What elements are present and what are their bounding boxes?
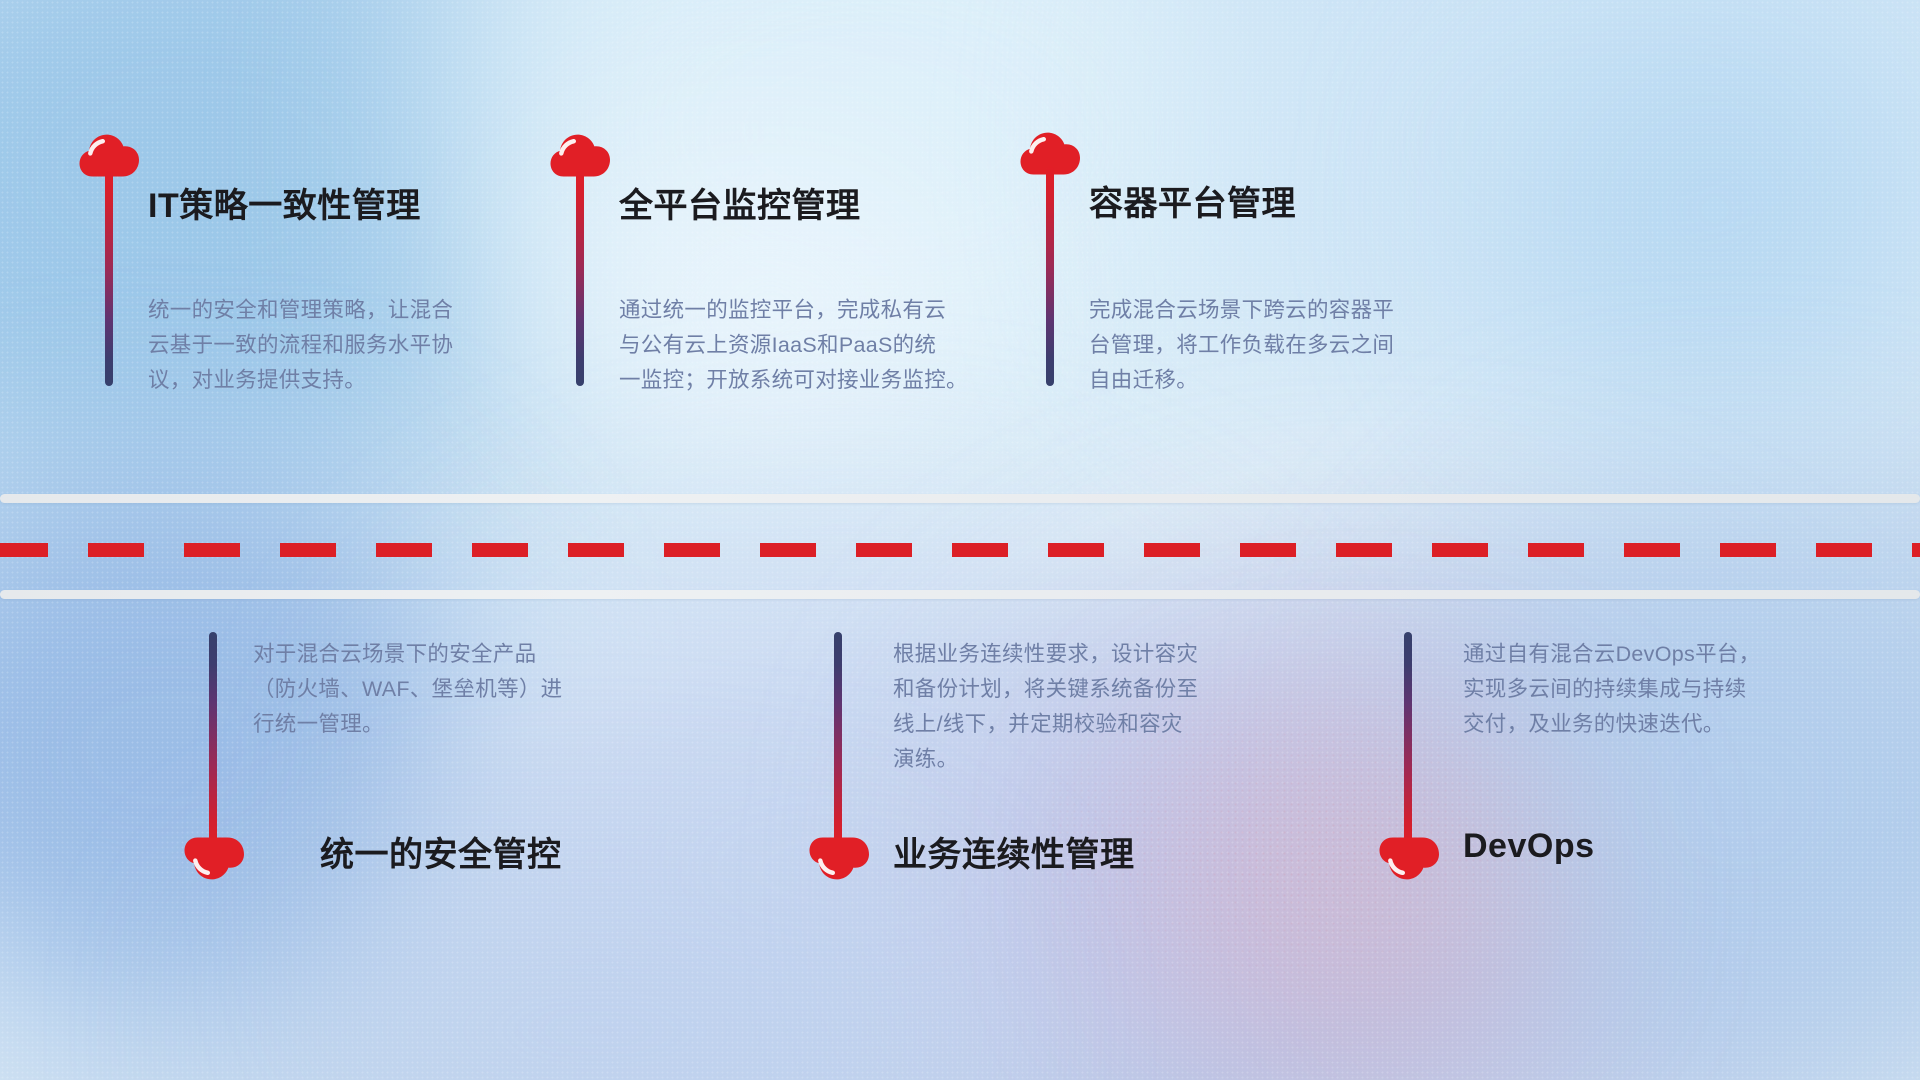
desc-line: 通过统一的监控平台，完成私有云 [619, 293, 968, 328]
desc-line: 行统一管理。 [253, 707, 562, 742]
connector-stem [576, 168, 584, 386]
panel-description: 完成混合云场景下跨云的容器平 台管理，将工作负载在多云之间 自由迁移。 [1089, 293, 1394, 398]
panel-title: DevOps [1463, 827, 1595, 866]
panel-title: 容器平台管理 [1089, 176, 1296, 225]
desc-line: 与公有云上资源IaaS和PaaS的统 [619, 328, 968, 363]
desc-line: 一监控；开放系统可对接业务监控。 [619, 363, 968, 398]
desc-line: 完成混合云场景下跨云的容器平 [1089, 293, 1394, 328]
desc-line: 实现多云间的持续集成与持续 [1463, 672, 1760, 707]
road-upper-lane-line [0, 494, 1920, 503]
connector-stem [1404, 632, 1412, 854]
desc-line: 演练。 [893, 742, 1198, 777]
panel-title: 业务连续性管理 [893, 827, 1135, 876]
cloud-icon [1378, 836, 1440, 884]
desc-line: 议，对业务提供支持。 [148, 363, 453, 398]
cloud-icon [183, 836, 245, 884]
cloud-icon [808, 836, 870, 884]
panel-description: 统一的安全和管理策略，让混合 云基于一致的流程和服务水平协 议，对业务提供支持。 [148, 293, 453, 398]
panel-title: 全平台监控管理 [619, 178, 861, 227]
connector-stem [834, 632, 842, 854]
desc-line: 根据业务连续性要求，设计容灾 [893, 637, 1198, 672]
connector-stem [209, 632, 217, 854]
panel-title: IT策略一致性管理 [148, 178, 421, 227]
road-center-dashes [0, 543, 1920, 557]
panel-description: 根据业务连续性要求，设计容灾 和备份计划，将关键系统备份至 线上/线下，并定期校… [893, 637, 1198, 777]
panel-description: 通过统一的监控平台，完成私有云 与公有云上资源IaaS和PaaS的统 一监控；开… [619, 293, 968, 398]
infographic-canvas: IT策略一致性管理 统一的安全和管理策略，让混合 云基于一致的流程和服务水平协 … [0, 0, 1920, 1080]
desc-line: 统一的安全和管理策略，让混合 [148, 293, 453, 328]
panel-description: 通过自有混合云DevOps平台， 实现多云间的持续集成与持续 交付，及业务的快速… [1463, 637, 1760, 742]
road-lower-lane-line [0, 590, 1920, 599]
desc-line: 和备份计划，将关键系统备份至 [893, 672, 1198, 707]
desc-line: 云基于一致的流程和服务水平协 [148, 328, 453, 363]
panel-title: 统一的安全管控 [320, 827, 562, 876]
panel-description: 对于混合云场景下的安全产品 （防火墙、WAF、堡垒机等）进 行统一管理。 [253, 637, 562, 742]
desc-line: 自由迁移。 [1089, 363, 1394, 398]
desc-line: 台管理，将工作负载在多云之间 [1089, 328, 1394, 363]
desc-line: 通过自有混合云DevOps平台， [1463, 637, 1760, 672]
connector-stem [105, 168, 113, 386]
desc-line: 交付，及业务的快速迭代。 [1463, 707, 1760, 742]
desc-line: （防火墙、WAF、堡垒机等）进 [253, 672, 562, 707]
desc-line: 对于混合云场景下的安全产品 [253, 637, 562, 672]
desc-line: 线上/线下，并定期校验和容灾 [893, 707, 1198, 742]
connector-stem [1046, 166, 1054, 386]
